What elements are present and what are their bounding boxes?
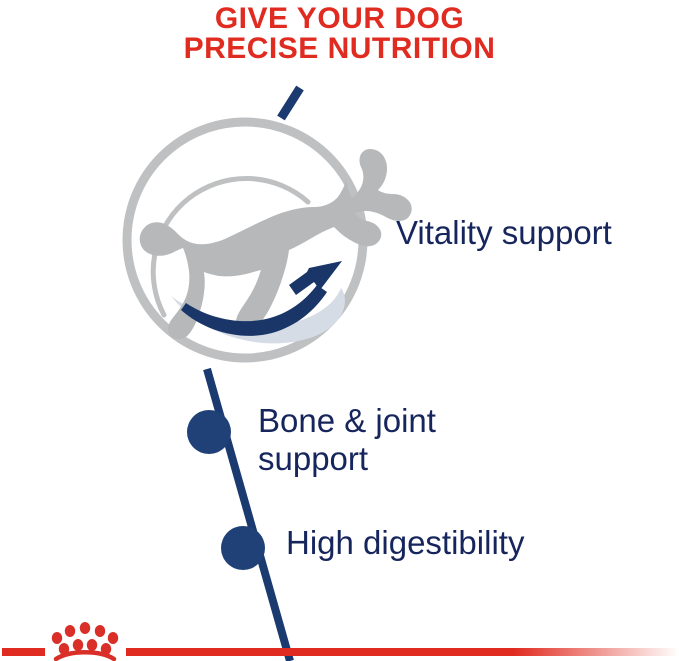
footer-rule-right [126,648,679,656]
icon-dog-silhouette [140,149,412,339]
icon-inner-arc [153,178,308,315]
icon-outer-ring [127,122,363,358]
bullet-dot-bone-joint [187,410,231,454]
icon-upward-arrow [181,261,342,336]
icon-arrow-tail [181,285,327,336]
connector-line [207,88,300,661]
connector-segment-top [281,88,300,118]
royal-canin-crown-logo [52,622,118,659]
promo-panel: Give your dog precise nutrition [0,0,679,661]
page-title: Give your dog precise nutrition [0,4,679,64]
footer-rule [2,648,679,656]
icon-arrow-head [289,261,342,295]
benefit-label-bone-joint-support: Bone & joint support [258,402,436,478]
benefit-label-high-digestibility: High digestibility [286,524,524,562]
footer-rule-left [2,648,45,656]
benefit-label-vitality-support: Vitality support [396,214,612,252]
dog-jumping-in-circle-icon [127,122,412,358]
bullet-dot-digestibility [221,526,265,570]
icon-ground-swoosh [171,288,345,343]
